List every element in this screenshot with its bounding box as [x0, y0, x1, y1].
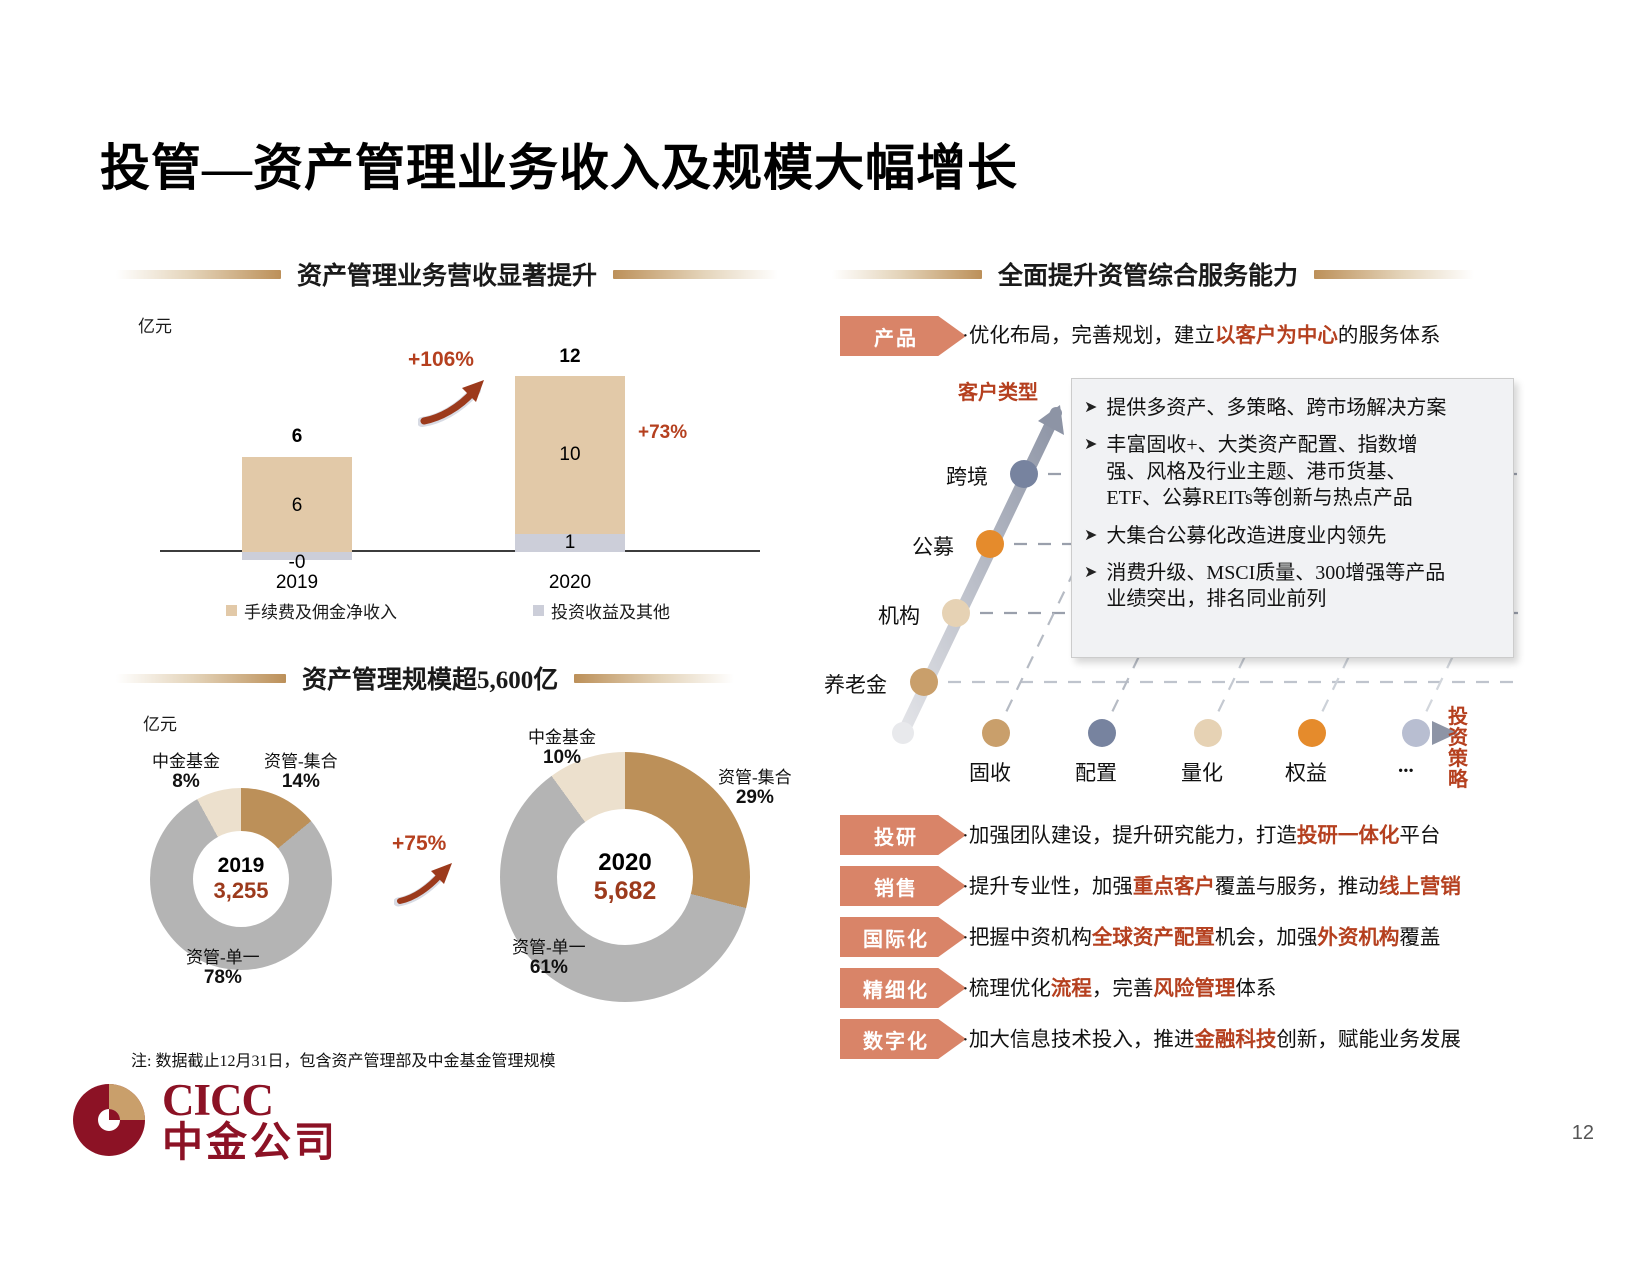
legend-label-fee: 手续费及佣金净收入 [244, 598, 397, 623]
legend-item-fee[interactable]: 手续费及佣金净收入 [226, 598, 397, 623]
matrix-xtick-ellipsis: ... [1398, 753, 1414, 778]
donut-2020-pct-danyi: 61% [530, 957, 568, 978]
donut-charts: 2019 3,255 资管-集合 14% 中金基金 8% 资管-单一 78% +… [130, 740, 810, 1030]
matrix-dot-y-institution [942, 599, 970, 627]
matrix-dot-y-public-fund [976, 530, 1004, 558]
donut-2019-label-fund-text: 中金基金 [152, 752, 220, 771]
bullet-dot: · [962, 927, 969, 949]
sales-text-highlight-1: 重点客户 [1133, 876, 1215, 898]
bar-total-2020: 12 [515, 346, 625, 368]
callout-arrow-icon: ➤ [1084, 432, 1097, 511]
sales-text-1: 提升专业性，加强 [969, 876, 1133, 898]
callout-text: 消费升级、MSCI质量、300增强等产品 业绩突出，排名同业前列 [1106, 560, 1445, 613]
callout-arrow-icon: ➤ [1084, 560, 1097, 613]
intl-text-3: 覆盖 [1399, 927, 1440, 949]
slide-canvas: 投管—资产管理业务收入及规模大幅增长 资产管理业务营收显著提升 亿元 6 6 -… [0, 0, 1650, 1275]
matrix-dot-x-other [1402, 719, 1430, 747]
chevron-label-internationalization: 国际化 [863, 923, 929, 952]
bar-total-2019: 6 [242, 426, 352, 448]
sales-row-text: ·提升专业性，加强重点客户覆盖与服务，推动线上营销 [962, 877, 1461, 898]
refine-text-1: 梳理优化 [969, 978, 1051, 1000]
bullet-dot: · [962, 1029, 969, 1051]
donut-2020-label-jihe: 资管-集合 29% [718, 768, 792, 808]
bar-segment-inv-2020[interactable]: 1 [515, 534, 625, 552]
donut-2019-label-fund: 中金基金 8% [152, 752, 220, 792]
chevron-label-refinement: 精细化 [863, 974, 929, 1003]
donut-2020-pct-jihe: 29% [736, 787, 774, 808]
product-text-highlight: 以客户为中心 [1215, 325, 1338, 347]
donut-2019-year: 2019 [218, 854, 265, 878]
chevron-tag-product[interactable]: 产品 [840, 316, 966, 356]
chevron-label-sales: 销售 [874, 872, 918, 901]
chevron-label-product: 产品 [874, 322, 918, 351]
donut-unit-label: 亿元 [143, 710, 177, 735]
rule-left-3 [832, 270, 982, 279]
callout-line: 丰富固收+、大类资产配置、指数增 [1106, 434, 1417, 456]
product-callout-box: ➤ 提供多资产、多策略、跨市场解决方案 ➤ 丰富固收+、大类资产配置、指数增 强… [1071, 378, 1514, 658]
bar-value-fee-2020: 10 [515, 444, 625, 466]
bar-segment-fee-2019[interactable]: 6 [242, 457, 352, 552]
sales-text-highlight-2: 线上营销 [1379, 876, 1461, 898]
footnote: 注: 数据截止12月31日，包含资产管理部及中金基金管理规模 [131, 1047, 555, 1071]
legend-label-investment: 投资收益及其他 [551, 598, 670, 623]
matrix-y-axis-title: 客户类型 [958, 383, 1038, 404]
legend-swatch-fee [226, 605, 237, 616]
intl-text-highlight-2: 外资机构 [1317, 927, 1399, 949]
callout-line: 大集合公募化改造进度业内领先 [1106, 525, 1386, 547]
chevron-label-research: 投研 [874, 821, 918, 850]
refinement-row-text: ·梳理优化流程，完善风险管理体系 [962, 979, 1276, 1000]
donut-2020-year: 2020 [598, 849, 651, 877]
section-header-capability: 全面提升资管综合服务能力 [832, 256, 1532, 292]
matrix-dot-y-cross-border [1010, 460, 1038, 488]
growth-label-fee: +73% [638, 422, 687, 444]
donut-2019-pct-danyi: 78% [204, 967, 242, 988]
callout-line: 强、风格及行业主题、港币货基、 [1106, 461, 1406, 483]
callout-line: 业绩突出，排名同业前列 [1106, 588, 1326, 610]
donut-2019[interactable]: 2019 3,255 [150, 788, 332, 970]
chevron-label-digitalization: 数字化 [863, 1025, 929, 1054]
section-title-capability: 全面提升资管综合服务能力 [982, 256, 1314, 292]
matrix-x-axis-title: 投资策略 [1448, 707, 1474, 791]
chevron-tag-sales[interactable]: 销售 [840, 866, 966, 906]
refine-text-2: ，完善 [1092, 978, 1154, 1000]
growth-label-total: +106% [408, 348, 474, 372]
bullet-dot: · [962, 325, 969, 347]
callout-item: ➤ 消费升级、MSCI质量、300增强等产品 业绩突出，排名同业前列 [1084, 560, 1499, 613]
bar-value-inv-2019: -0 [242, 552, 352, 574]
bullet-dot: · [962, 825, 969, 847]
donut-2020-label-danyi-text: 资管-单一 [512, 938, 586, 957]
logo-text-en: CICC [162, 1078, 338, 1122]
donut-2019-center: 2019 3,255 [193, 831, 289, 927]
bar-value-fee-2019: 6 [242, 495, 352, 517]
research-text-1: 加强团队建设，提升研究能力，打造 [969, 825, 1297, 847]
matrix-xtick-quant: 量化 [1181, 757, 1223, 787]
refine-text-highlight-2: 风险管理 [1153, 978, 1235, 1000]
matrix-dot-x-fixed-income [982, 719, 1010, 747]
research-text-2: 平台 [1399, 825, 1440, 847]
chevron-tag-research[interactable]: 投研 [840, 815, 966, 855]
callout-item: ➤ 丰富固收+、大类资产配置、指数增 强、风格及行业主题、港币货基、 ETF、公… [1084, 432, 1499, 511]
rule-right-3 [1314, 270, 1474, 279]
matrix-dot-x-equity [1298, 719, 1326, 747]
bar-value-inv-2020: 1 [515, 532, 625, 554]
donut-2019-pct-jihe: 14% [282, 771, 320, 792]
intl-text-highlight-1: 全球资产配置 [1092, 927, 1215, 949]
callout-item: ➤ 大集合公募化改造进度业内领先 [1084, 523, 1499, 549]
donut-2019-label-jihe-text: 资管-集合 [264, 752, 338, 771]
digital-text-2: 创新，赋能业务发展 [1276, 1029, 1461, 1051]
rule-left-2 [116, 674, 286, 683]
rule-right-2 [574, 674, 734, 683]
section-title-aum: 资产管理规模超5,600亿 [286, 660, 574, 696]
callout-text: 丰富固收+、大类资产配置、指数增 强、风格及行业主题、港币货基、 ETF、公募R… [1106, 432, 1417, 511]
product-text-2: 的服务体系 [1338, 325, 1441, 347]
logo-mark-icon [68, 1082, 154, 1158]
matrix-ytick-pension: 养老金 [824, 669, 887, 699]
donut-2019-label-jihe: 资管-集合 14% [264, 752, 338, 792]
donut-2019-value: 3,255 [213, 878, 268, 904]
intl-text-2: 机会，加强 [1215, 927, 1318, 949]
chevron-tag-refinement[interactable]: 精细化 [840, 968, 966, 1008]
cicc-logo: CICC 中金公司 [68, 1082, 348, 1158]
rule-right [613, 270, 778, 279]
callout-text: 提供多资产、多策略、跨市场解决方案 [1106, 395, 1446, 421]
donut-2019-label-danyi: 资管-单一 78% [186, 948, 260, 988]
donut-growth-label: +75% [392, 832, 446, 856]
callout-arrow-icon: ➤ [1084, 395, 1097, 421]
refine-text-3: 体系 [1235, 978, 1276, 1000]
donut-2020-label-fund: 中金基金 10% [528, 728, 596, 768]
donut-growth-arrow [394, 860, 458, 908]
bar-xlabel-2019: 2019 [242, 572, 352, 594]
logo-wordmark: CICC 中金公司 [162, 1078, 338, 1163]
donut-2020-label-danyi: 资管-单一 61% [512, 938, 586, 978]
donut-2020-label-jihe-text: 资管-集合 [718, 768, 792, 787]
research-text-highlight: 投研一体化 [1297, 825, 1400, 847]
legend-swatch-investment [533, 605, 544, 616]
callout-item: ➤ 提供多资产、多策略、跨市场解决方案 [1084, 395, 1499, 421]
chevron-tag-digitalization[interactable]: 数字化 [840, 1019, 966, 1059]
matrix-ytick-institution: 机构 [878, 600, 920, 630]
logo-text-cn: 中金公司 [162, 1122, 338, 1163]
digitalization-row-text: ·加大信息技术投入，推进金融科技创新，赋能业务发展 [962, 1030, 1461, 1051]
bullet-dot: · [962, 876, 969, 898]
product-text-1: 优化布局，完善规划，建立 [969, 325, 1215, 347]
bar-chart: 6 6 -0 2019 12 10 1 2020 +106% +73% [130, 330, 770, 600]
section-title-revenue: 资产管理业务营收显著提升 [281, 256, 613, 292]
callout-text: 大集合公募化改造进度业内领先 [1106, 523, 1386, 549]
callout-arrow-icon: ➤ [1084, 523, 1097, 549]
sales-text-2: 覆盖与服务，推动 [1215, 876, 1379, 898]
matrix-ytick-public-fund: 公募 [912, 531, 954, 561]
bar-xlabel-2020: 2020 [515, 572, 625, 594]
donut-2020-pct-fund: 10% [543, 747, 581, 768]
matrix-dot-x-allocation [1088, 719, 1116, 747]
bar-legend: 手续费及佣金净收入 投资收益及其他 [130, 598, 730, 623]
growth-arrow-total [418, 376, 492, 428]
matrix-xtick-fixed-income: 固收 [969, 757, 1011, 787]
matrix-dot-y-pension [910, 668, 938, 696]
section-header-revenue: 资产管理业务营收显著提升 [116, 256, 816, 292]
section-header-aum: 资产管理规模超5,600亿 [116, 660, 816, 696]
donut-2019-pct-fund: 8% [172, 771, 199, 792]
matrix-xtick-allocation: 配置 [1075, 757, 1117, 787]
donut-2020-label-fund-text: 中金基金 [528, 728, 596, 747]
refine-text-highlight-1: 流程 [1051, 978, 1092, 1000]
page-number: 12 [1572, 1122, 1594, 1145]
donut-2020-center: 2020 5,682 [557, 809, 693, 945]
bullet-dot: · [962, 978, 969, 1000]
callout-line: 消费升级、MSCI质量、300增强等产品 [1106, 562, 1445, 584]
digital-text-1: 加大信息技术投入，推进 [969, 1029, 1195, 1051]
product-row-text: ·优化布局，完善规划，建立以客户为中心的服务体系 [962, 326, 1440, 347]
research-row-text: ·加强团队建设，提升研究能力，打造投研一体化平台 [962, 826, 1440, 847]
chevron-tag-internationalization[interactable]: 国际化 [840, 917, 966, 957]
donut-2020-value: 5,682 [594, 877, 657, 906]
bar-segment-fee-2020[interactable]: 10 [515, 376, 625, 536]
page-title: 投管—资产管理业务收入及规模大幅增长 [100, 128, 1018, 200]
digital-text-highlight: 金融科技 [1194, 1029, 1276, 1051]
rule-left [116, 270, 281, 279]
matrix-xtick-equity: 权益 [1285, 757, 1327, 787]
donut-2019-label-danyi-text: 资管-单一 [186, 948, 260, 967]
legend-item-investment[interactable]: 投资收益及其他 [533, 598, 670, 623]
internationalization-row-text: ·把握中资机构全球资产配置机会，加强外资机构覆盖 [962, 928, 1440, 949]
matrix-ytick-cross-border: 跨境 [946, 461, 988, 491]
callout-line: ETF、公募REITs等创新与热点产品 [1106, 487, 1412, 509]
matrix-dot-x-quant [1194, 719, 1222, 747]
intl-text-1: 把握中资机构 [969, 927, 1092, 949]
callout-line: 提供多资产、多策略、跨市场解决方案 [1106, 397, 1446, 419]
